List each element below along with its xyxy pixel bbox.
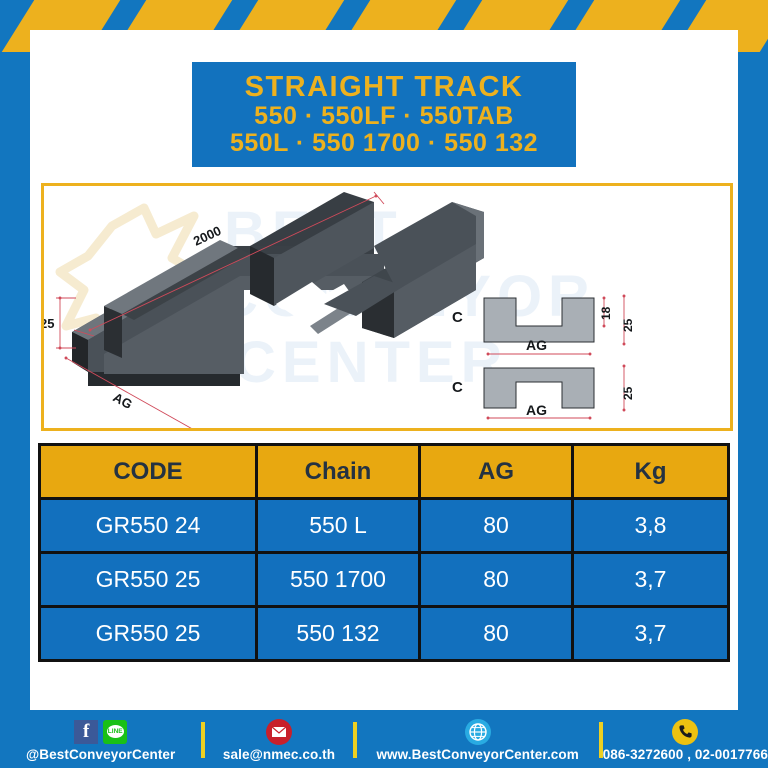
globe-icon[interactable] — [465, 719, 491, 745]
footer-phone[interactable]: 086-3272600 , 02-0017766 — [603, 719, 768, 762]
table-header-row: CODE Chain AG Kg — [41, 446, 727, 497]
svg-text:AG: AG — [526, 402, 547, 418]
footer-website[interactable]: www.BestConveyorCenter.com — [357, 719, 599, 762]
column-header-code: CODE — [41, 446, 255, 497]
title-block: STRAIGHT TRACK 550 · 550LF · 550TAB 550L… — [192, 62, 576, 167]
cell-code: GR550 25 — [41, 608, 255, 659]
cell-ag: 80 — [421, 554, 571, 605]
svg-text:18: 18 — [599, 306, 613, 320]
svg-text:AG: AG — [526, 337, 547, 353]
phone-icon[interactable] — [672, 719, 698, 745]
page-title: STRAIGHT TRACK — [245, 73, 524, 102]
facebook-icon[interactable]: f — [74, 720, 98, 744]
email-label: sale@nmec.co.th — [223, 747, 335, 762]
footer-email[interactable]: sale@nmec.co.th — [205, 719, 352, 762]
column-header-ag: AG — [421, 446, 571, 497]
website-label: www.BestConveyorCenter.com — [376, 747, 578, 762]
svg-text:C: C — [452, 309, 463, 326]
table-row: GR550 25 550 132 80 3,7 — [41, 608, 727, 659]
envelope-glyph — [271, 726, 287, 738]
globe-glyph — [469, 723, 487, 741]
outer-frame: STRAIGHT TRACK 550 · 550LF · 550TAB 550L… — [0, 0, 768, 768]
title-subtitle-2: 550L · 550 1700 · 550 132 — [230, 130, 538, 156]
spec-table: CODE Chain AG Kg GR550 24 550 L 80 3,8 G… — [38, 443, 730, 662]
technical-drawing-panel: BEST CONVEYOR CENTER — [41, 183, 733, 431]
table-row: GR550 24 550 L 80 3,8 — [41, 500, 727, 551]
title-subtitle-1: 550 · 550LF · 550TAB — [254, 103, 514, 129]
table-row: GR550 25 550 1700 80 3,7 — [41, 554, 727, 605]
cell-chain: 550 132 — [258, 608, 418, 659]
cell-kg: 3,8 — [574, 500, 727, 551]
svg-text:25: 25 — [621, 386, 635, 400]
svg-text:25: 25 — [621, 318, 635, 332]
phone-glyph — [678, 724, 693, 739]
cell-kg: 3,7 — [574, 608, 727, 659]
footer-social[interactable]: f LINE @BestConveyorCenter — [0, 719, 201, 762]
line-badge-label: LINE — [107, 725, 124, 738]
isometric-track-drawing: 2000 25 AG C 18 — [44, 186, 730, 428]
svg-text:C: C — [452, 379, 463, 396]
cell-code: GR550 25 — [41, 554, 255, 605]
column-header-kg: Kg — [574, 446, 727, 497]
cell-chain: 550 L — [258, 500, 418, 551]
svg-text:25: 25 — [44, 316, 54, 331]
cell-kg: 3,7 — [574, 554, 727, 605]
cell-ag: 80 — [421, 608, 571, 659]
svg-text:AG: AG — [111, 390, 135, 413]
cell-ag: 80 — [421, 500, 571, 551]
cell-code: GR550 24 — [41, 500, 255, 551]
cell-chain: 550 1700 — [258, 554, 418, 605]
contact-footer: f LINE @BestConveyorCenter sale@nmec.co.… — [0, 712, 768, 768]
line-icon[interactable]: LINE — [103, 720, 127, 744]
phone-label: 086-3272600 , 02-0017766 — [603, 747, 768, 762]
email-icon[interactable] — [266, 719, 292, 745]
social-handle-label: @BestConveyorCenter — [26, 747, 175, 762]
column-header-chain: Chain — [258, 446, 418, 497]
